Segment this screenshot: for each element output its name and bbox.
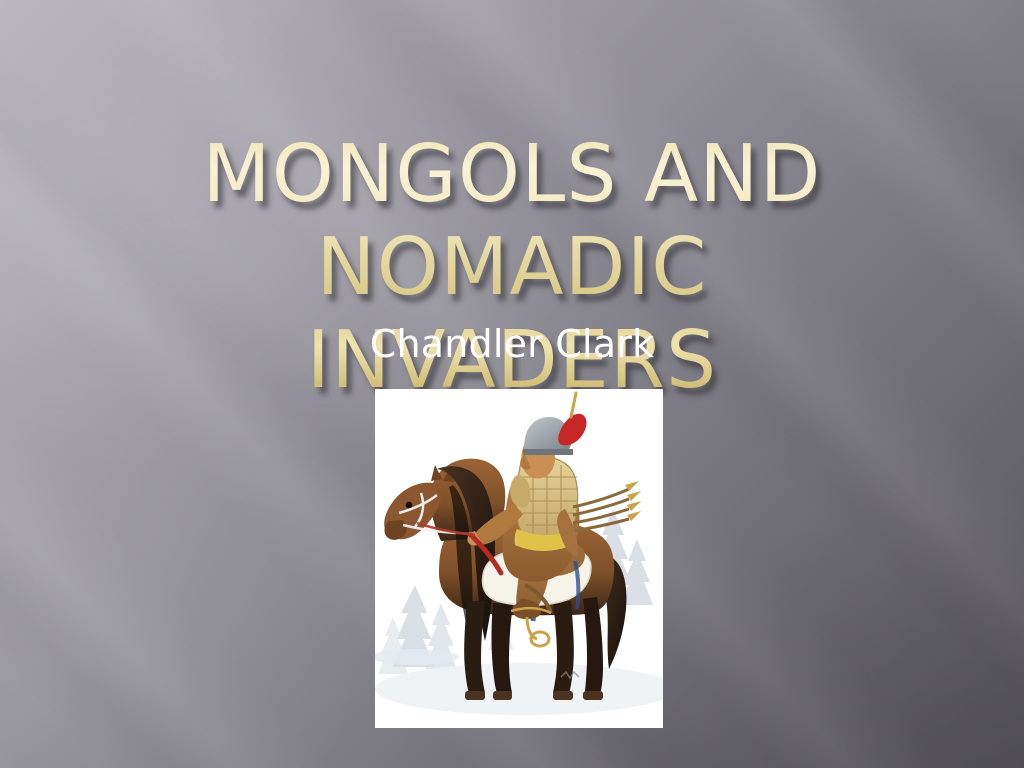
presentation-slide: MONGOLS AND NOMADIC INVADERS Chandler Cl… — [0, 0, 1024, 768]
subtitle-placeholder: Chandler Clark — [40, 322, 984, 366]
mongol-horseman-illustration — [375, 389, 663, 728]
mongol-horseman-image — [375, 389, 663, 728]
author-subtitle: Chandler Clark — [40, 322, 984, 366]
